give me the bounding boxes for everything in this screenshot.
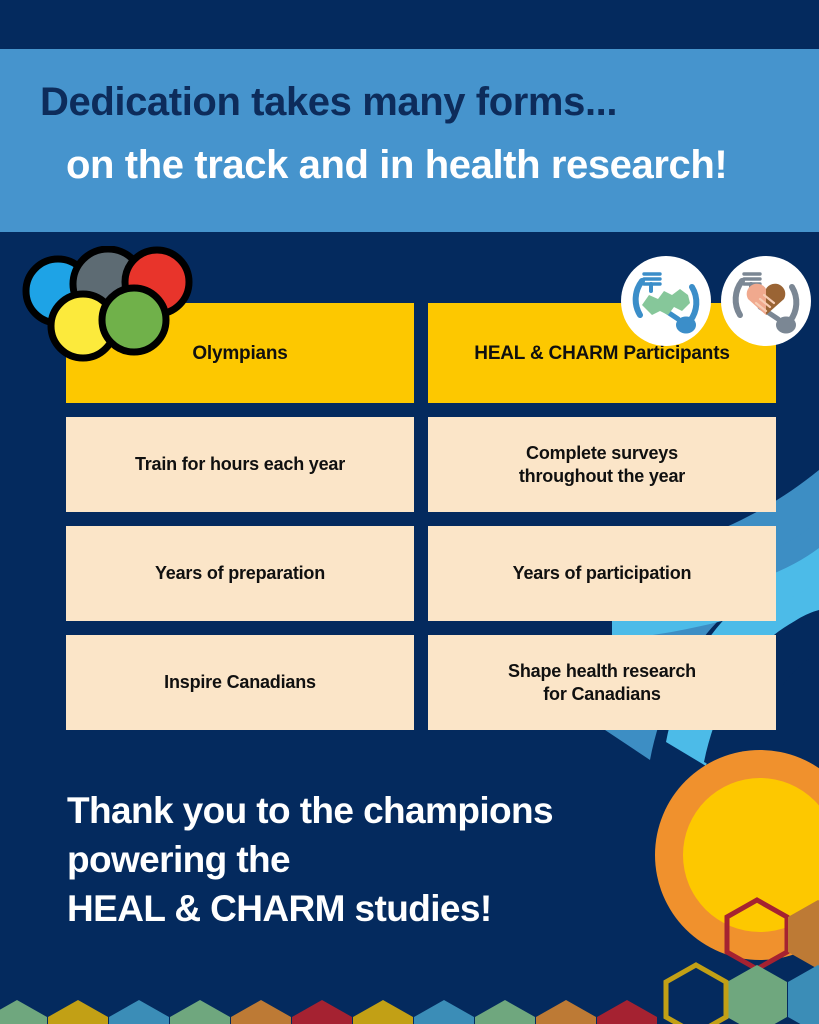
hexagon-band: [0, 1000, 657, 1024]
charm-logo-icon: [718, 253, 814, 349]
medallion-circle: [655, 750, 819, 960]
table-row: Inspire Canadians Shape health research …: [66, 635, 776, 730]
top-navy-strip: [0, 0, 819, 49]
cell-text-participants-1-line2: throughout the year: [519, 466, 685, 486]
heal-logo-icon: [618, 253, 714, 349]
cell-participants-2: Years of participation: [428, 526, 776, 621]
study-logo-badges: [618, 253, 816, 349]
closing-line-1: Thank you to the champions: [67, 786, 667, 835]
cell-text-olympians-3: Inspire Canadians: [164, 671, 316, 694]
cell-text-participants-1: Complete surveys throughout the year: [519, 442, 685, 488]
hexagon-cluster: [666, 900, 819, 1024]
cell-text-olympians-2: Years of preparation: [155, 562, 325, 585]
headline-banner: Dedication takes many forms... on the tr…: [0, 49, 819, 232]
olympic-rings-icon: [20, 246, 196, 362]
cell-text-participants-3: Shape health research for Canadians: [508, 660, 696, 706]
table-row: Years of preparation Years of participat…: [66, 526, 776, 621]
headline-line-2: on the track and in health research!: [66, 143, 727, 187]
comparison-table: Olympians HEAL & CHARM Participants Trai…: [66, 303, 776, 730]
cell-olympians-1: Train for hours each year: [66, 417, 414, 512]
closing-line-2: powering the: [67, 835, 667, 884]
cell-text-participants-3-line2: for Canadians: [543, 684, 660, 704]
cell-text-participants-1-line1: Complete surveys: [526, 443, 678, 463]
closing-message: Thank you to the champions powering the …: [67, 786, 667, 933]
cell-text-participants-3-line1: Shape health research: [508, 661, 696, 681]
cell-olympians-2: Years of preparation: [66, 526, 414, 621]
cell-participants-1: Complete surveys throughout the year: [428, 417, 776, 512]
cell-participants-3: Shape health research for Canadians: [428, 635, 776, 730]
table-row: Train for hours each year Complete surve…: [66, 417, 776, 512]
cell-text-olympians-1: Train for hours each year: [135, 453, 345, 476]
cell-olympians-3: Inspire Canadians: [66, 635, 414, 730]
closing-line-3: HEAL & CHARM studies!: [67, 884, 667, 933]
headline-line-1: Dedication takes many forms...: [40, 80, 617, 124]
cell-text-participants-2: Years of participation: [513, 562, 692, 585]
infographic-poster: Dedication takes many forms... on the tr…: [0, 0, 819, 1024]
header-label-olympians: Olympians: [192, 342, 287, 365]
